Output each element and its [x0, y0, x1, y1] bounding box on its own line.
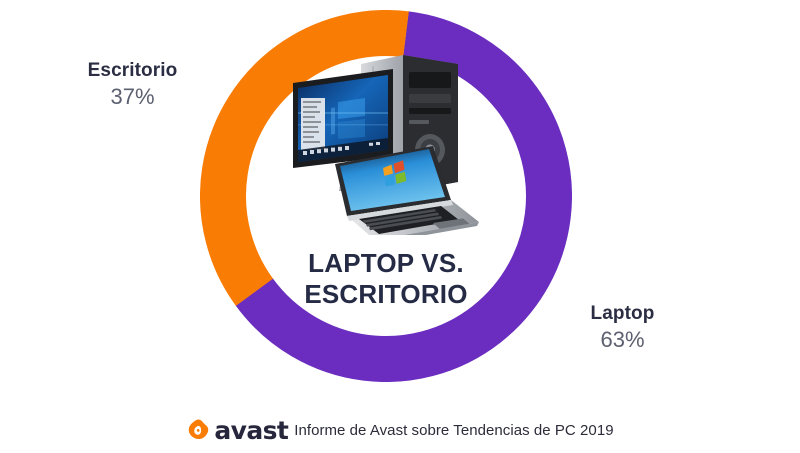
callout-escritorio-label: Escritorio: [40, 60, 225, 82]
avast-wordmark: avast: [214, 418, 288, 443]
chart-center-title: LAPTOP VS. ESCRITORIO: [236, 248, 536, 310]
avast-logo: avast: [186, 418, 288, 443]
callout-escritorio-value: 37%: [40, 84, 225, 110]
callout-escritorio: Escritorio 37%: [40, 60, 225, 110]
avast-ball-icon: [186, 418, 211, 443]
footer-caption: Informe de Avast sobre Tendencias de PC …: [294, 422, 613, 439]
desktop-and-laptop-illustration: [283, 50, 498, 235]
center-title-line-1: LAPTOP VS.: [236, 248, 536, 279]
callout-laptop: Laptop 63%: [540, 303, 705, 353]
callout-laptop-label: Laptop: [540, 303, 705, 325]
callout-laptop-value: 63%: [540, 327, 705, 353]
center-title-line-2: ESCRITORIO: [236, 279, 536, 310]
footer: avast Informe de Avast sobre Tendencias …: [0, 418, 800, 443]
center-artwork: [283, 50, 498, 235]
